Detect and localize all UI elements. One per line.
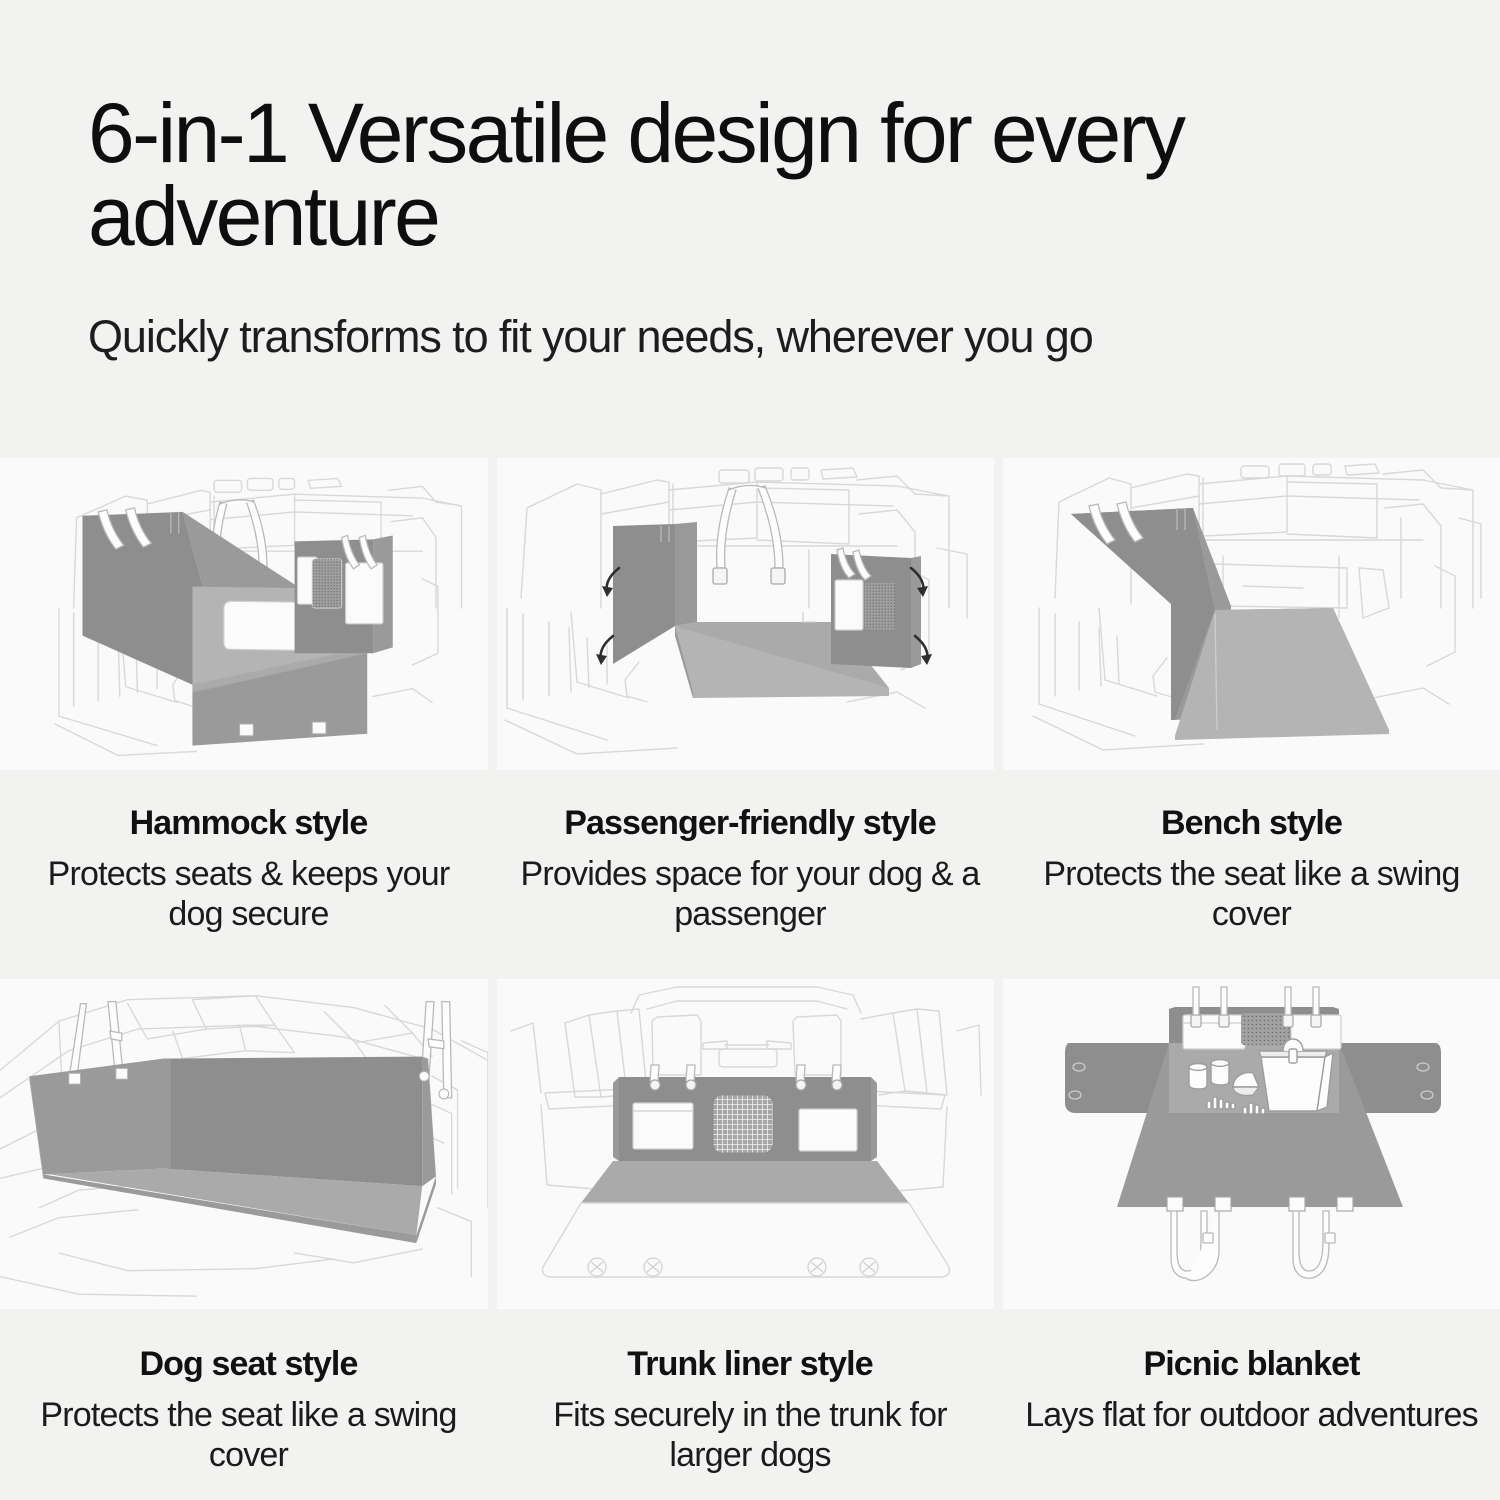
- style-description: Protects seats & keeps your dog secure: [18, 855, 479, 934]
- infographic-page: 6-in-1 Versatile design for every advent…: [0, 0, 1500, 1500]
- style-title: Bench style: [1021, 804, 1482, 843]
- header: 6-in-1 Versatile design for every advent…: [0, 0, 1500, 458]
- bench-illustration: [1003, 458, 1500, 770]
- hammock-illustration: [0, 458, 488, 770]
- style-description: Protects the seat like a swing cover: [1021, 855, 1482, 934]
- style-card-picnic-blanket: Picnic blanket Lays flat for outdoor adv…: [1003, 979, 1500, 1500]
- trunk-liner-illustration: [497, 979, 994, 1309]
- style-card-dog-seat: Dog seat style Protects the seat like a …: [0, 979, 497, 1500]
- passenger-friendly-illustration: [497, 458, 994, 770]
- caption-bench: Bench style Protects the seat like a swi…: [1003, 770, 1500, 934]
- caption-dog-seat: Dog seat style Protects the seat like a …: [0, 1309, 497, 1475]
- style-description: Lays flat for outdoor adventures: [1021, 1396, 1482, 1435]
- style-card-bench: Bench style Protects the seat like a swi…: [1003, 458, 1500, 979]
- style-card-passenger-friendly: Passenger-friendly style Provides space …: [497, 458, 1003, 979]
- style-title: Passenger-friendly style: [515, 804, 985, 843]
- style-title: Hammock style: [18, 804, 479, 843]
- page-title: 6-in-1 Versatile design for every advent…: [88, 92, 1328, 258]
- dog-seat-illustration: [0, 979, 488, 1309]
- styles-grid: Hammock style Protects seats & keeps you…: [0, 458, 1500, 1500]
- page-subtitle: Quickly transforms to fit your needs, wh…: [88, 312, 1420, 362]
- style-card-hammock: Hammock style Protects seats & keeps you…: [0, 458, 497, 979]
- style-card-trunk-liner: Trunk liner style Fits securely in the t…: [497, 979, 1003, 1500]
- caption-picnic-blanket: Picnic blanket Lays flat for outdoor adv…: [1003, 1309, 1500, 1436]
- caption-hammock: Hammock style Protects seats & keeps you…: [0, 770, 497, 934]
- style-description: Fits securely in the trunk for larger do…: [515, 1396, 985, 1475]
- style-description: Protects the seat like a swing cover: [18, 1396, 479, 1475]
- style-title: Dog seat style: [18, 1345, 479, 1384]
- caption-passenger-friendly: Passenger-friendly style Provides space …: [497, 770, 1003, 934]
- style-title: Trunk liner style: [515, 1345, 985, 1384]
- picnic-blanket-illustration: [1003, 979, 1500, 1309]
- style-description: Provides space for your dog & a passenge…: [515, 855, 985, 934]
- style-title: Picnic blanket: [1021, 1345, 1482, 1384]
- caption-trunk-liner: Trunk liner style Fits securely in the t…: [497, 1309, 1003, 1475]
